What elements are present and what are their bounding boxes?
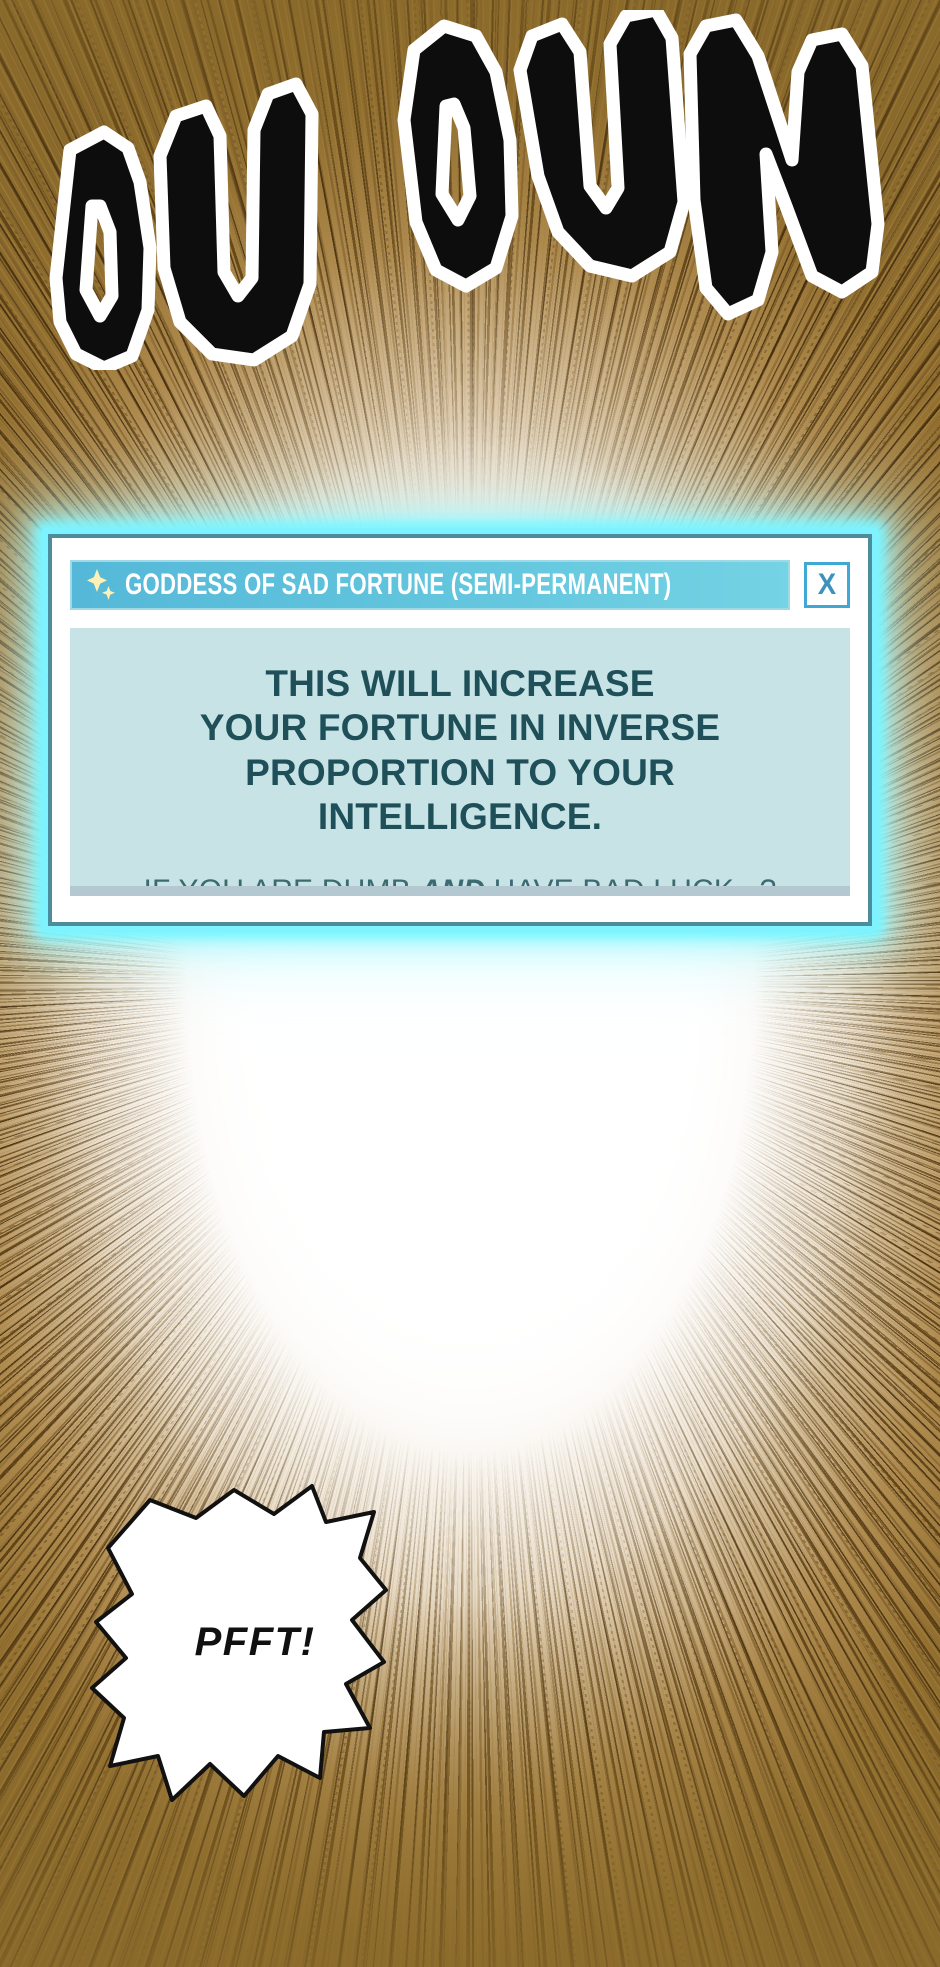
system-dialog: GODDESS OF SAD FORTUNE (SEMI-PERMANENT) … xyxy=(48,534,872,926)
subtext-before: IF YOU ARE DUMB xyxy=(143,874,419,896)
close-button[interactable]: X xyxy=(804,562,850,608)
sparkle-icon xyxy=(86,568,116,602)
dialog-body: THIS WILL INCREASE YOUR FORTUNE IN INVER… xyxy=(70,628,850,896)
comic-panel: GODDESS OF SAD FORTUNE (SEMI-PERMANENT) … xyxy=(0,0,940,1967)
dialog-title: GODDESS OF SAD FORTUNE (SEMI-PERMANENT) xyxy=(125,570,671,600)
dialog-titlebar: GODDESS OF SAD FORTUNE (SEMI-PERMANENT) xyxy=(70,560,790,610)
pfft-bubble: PFFT! xyxy=(88,1478,388,1808)
dialog-headline: THIS WILL INCREASE YOUR FORTUNE IN INVER… xyxy=(96,662,824,840)
subtext-emphasis: AND xyxy=(419,874,485,896)
close-icon: X xyxy=(818,570,836,600)
pfft-bubble-text: PFFT! xyxy=(88,1620,388,1665)
dialog-subtext: IF YOU ARE DUMB AND HAVE BAD LUCK...? TH… xyxy=(96,872,824,896)
dialog-titlebar-row: GODDESS OF SAD FORTUNE (SEMI-PERMANENT) … xyxy=(70,560,850,610)
